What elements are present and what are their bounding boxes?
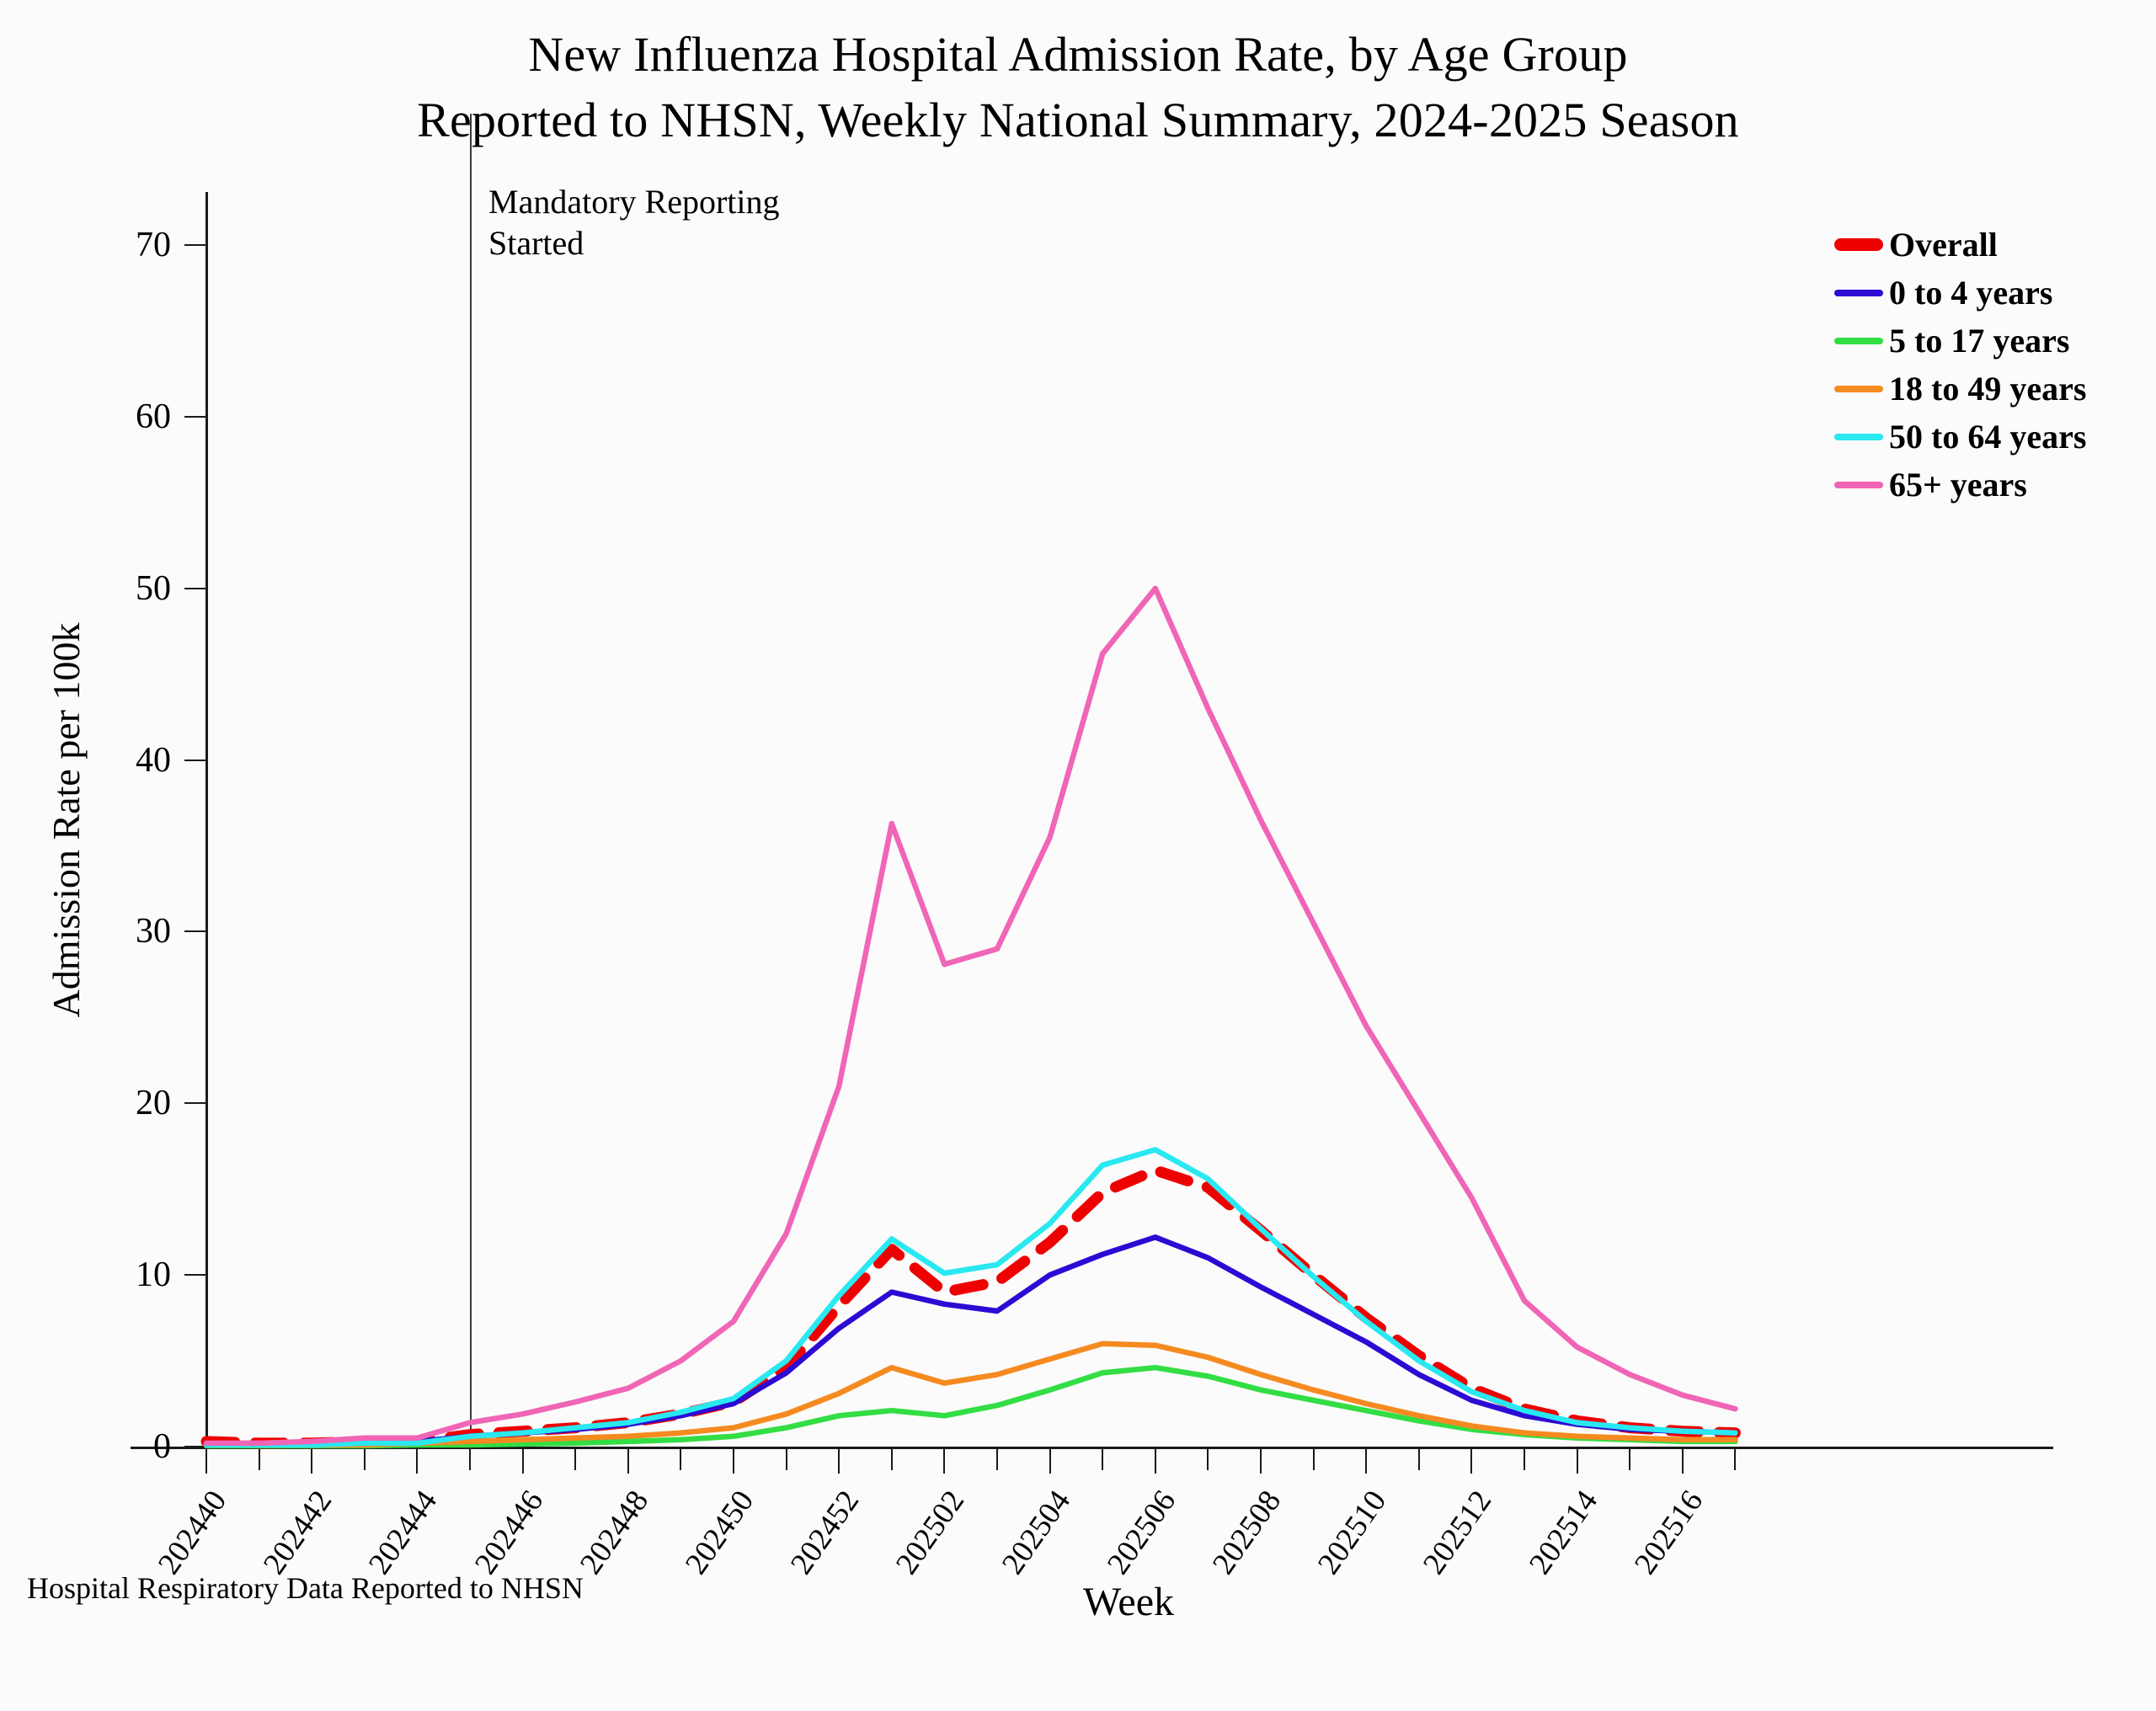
x-tick-mark	[1260, 1448, 1262, 1474]
y-tick-mark	[184, 416, 208, 418]
legend-swatch-icon	[1834, 434, 1883, 440]
x-tick-mark	[943, 1448, 945, 1474]
x-tick-mark	[1102, 1448, 1103, 1470]
x-tick-mark	[1577, 1448, 1578, 1474]
x-tick-mark	[469, 1448, 471, 1470]
x-tick-mark	[1207, 1448, 1209, 1470]
x-tick-mark	[680, 1448, 681, 1470]
x-tick-mark	[1470, 1448, 1472, 1474]
legend-item-label: 18 to 49 years	[1889, 372, 2086, 406]
legend-item[interactable]: 0 to 4 years	[1834, 269, 2146, 317]
legend-item[interactable]: 65+ years	[1834, 461, 2146, 509]
chart-footnote: Hospital Respiratory Data Reported to NH…	[27, 1571, 584, 1605]
legend-item[interactable]: 5 to 17 years	[1834, 317, 2146, 365]
legend-item-label: 50 to 64 years	[1889, 420, 2086, 454]
y-tick-label: 0	[72, 1429, 171, 1464]
x-tick-mark	[1365, 1448, 1367, 1474]
legend-swatch-icon	[1834, 290, 1883, 296]
x-tick-mark	[1524, 1448, 1525, 1470]
y-tick-label: 70	[72, 227, 171, 263]
x-tick-mark	[786, 1448, 787, 1470]
legend-item-label: 0 to 4 years	[1889, 276, 2052, 310]
legend-item-label: 65+ years	[1889, 468, 2027, 502]
chart-title-line-1: New Influenza Hospital Admission Rate, b…	[0, 22, 2156, 88]
y-tick-mark	[184, 760, 208, 761]
legend-swatch-icon	[1834, 482, 1883, 488]
y-tick-mark	[184, 1274, 208, 1276]
plot-area: 010203040506070 202440202442202444202446…	[206, 194, 2051, 1447]
x-tick-mark	[311, 1448, 312, 1474]
x-tick-mark	[1734, 1448, 1736, 1470]
chart-figure: New Influenza Hospital Admission Rate, b…	[0, 0, 2156, 1617]
legend-swatch-icon	[1834, 338, 1883, 344]
x-tick-mark	[1313, 1448, 1315, 1470]
x-tick-mark	[1155, 1448, 1156, 1474]
y-tick-mark	[184, 1102, 208, 1104]
x-tick-mark	[522, 1448, 524, 1474]
legend-item[interactable]: 18 to 49 years	[1834, 365, 2146, 413]
y-tick-label: 60	[72, 399, 171, 434]
legend-item[interactable]: 50 to 64 years	[1834, 413, 2146, 461]
series-line-18-to-49-years	[206, 1344, 1735, 1445]
x-tick-mark	[733, 1448, 734, 1474]
x-tick-mark	[1049, 1448, 1051, 1474]
chart-legend: Overall0 to 4 years5 to 17 years18 to 49…	[1834, 221, 2146, 509]
y-tick-mark	[184, 930, 208, 932]
x-tick-mark	[838, 1448, 840, 1474]
y-tick-label: 10	[72, 1257, 171, 1293]
legend-item[interactable]: Overall	[1834, 221, 2146, 269]
chart-title-block: New Influenza Hospital Admission Rate, b…	[0, 22, 2156, 153]
series-canvas	[206, 194, 2051, 1447]
x-tick-mark	[891, 1448, 893, 1470]
x-tick-mark	[259, 1448, 260, 1470]
x-tick-mark	[996, 1448, 998, 1470]
chart-title-line-2: Reported to NHSN, Weekly National Summar…	[0, 88, 2156, 153]
x-tick-mark	[205, 1448, 207, 1474]
x-tick-mark	[1629, 1448, 1630, 1470]
x-tick-mark	[627, 1448, 629, 1474]
series-line-65-years	[206, 589, 1735, 1443]
legend-swatch-icon	[1834, 238, 1883, 251]
legend-item-label: 5 to 17 years	[1889, 324, 2069, 358]
y-tick-mark	[184, 244, 208, 246]
x-tick-mark	[364, 1448, 366, 1470]
x-tick-mark	[416, 1448, 418, 1474]
legend-item-label: Overall	[1889, 228, 1998, 262]
legend-swatch-icon	[1834, 386, 1883, 392]
y-tick-mark	[184, 588, 208, 589]
x-tick-mark	[1418, 1448, 1420, 1470]
x-tick-mark	[574, 1448, 576, 1470]
y-axis-label: Admission Rate per 100k	[43, 441, 90, 1199]
x-tick-mark	[1682, 1448, 1684, 1474]
